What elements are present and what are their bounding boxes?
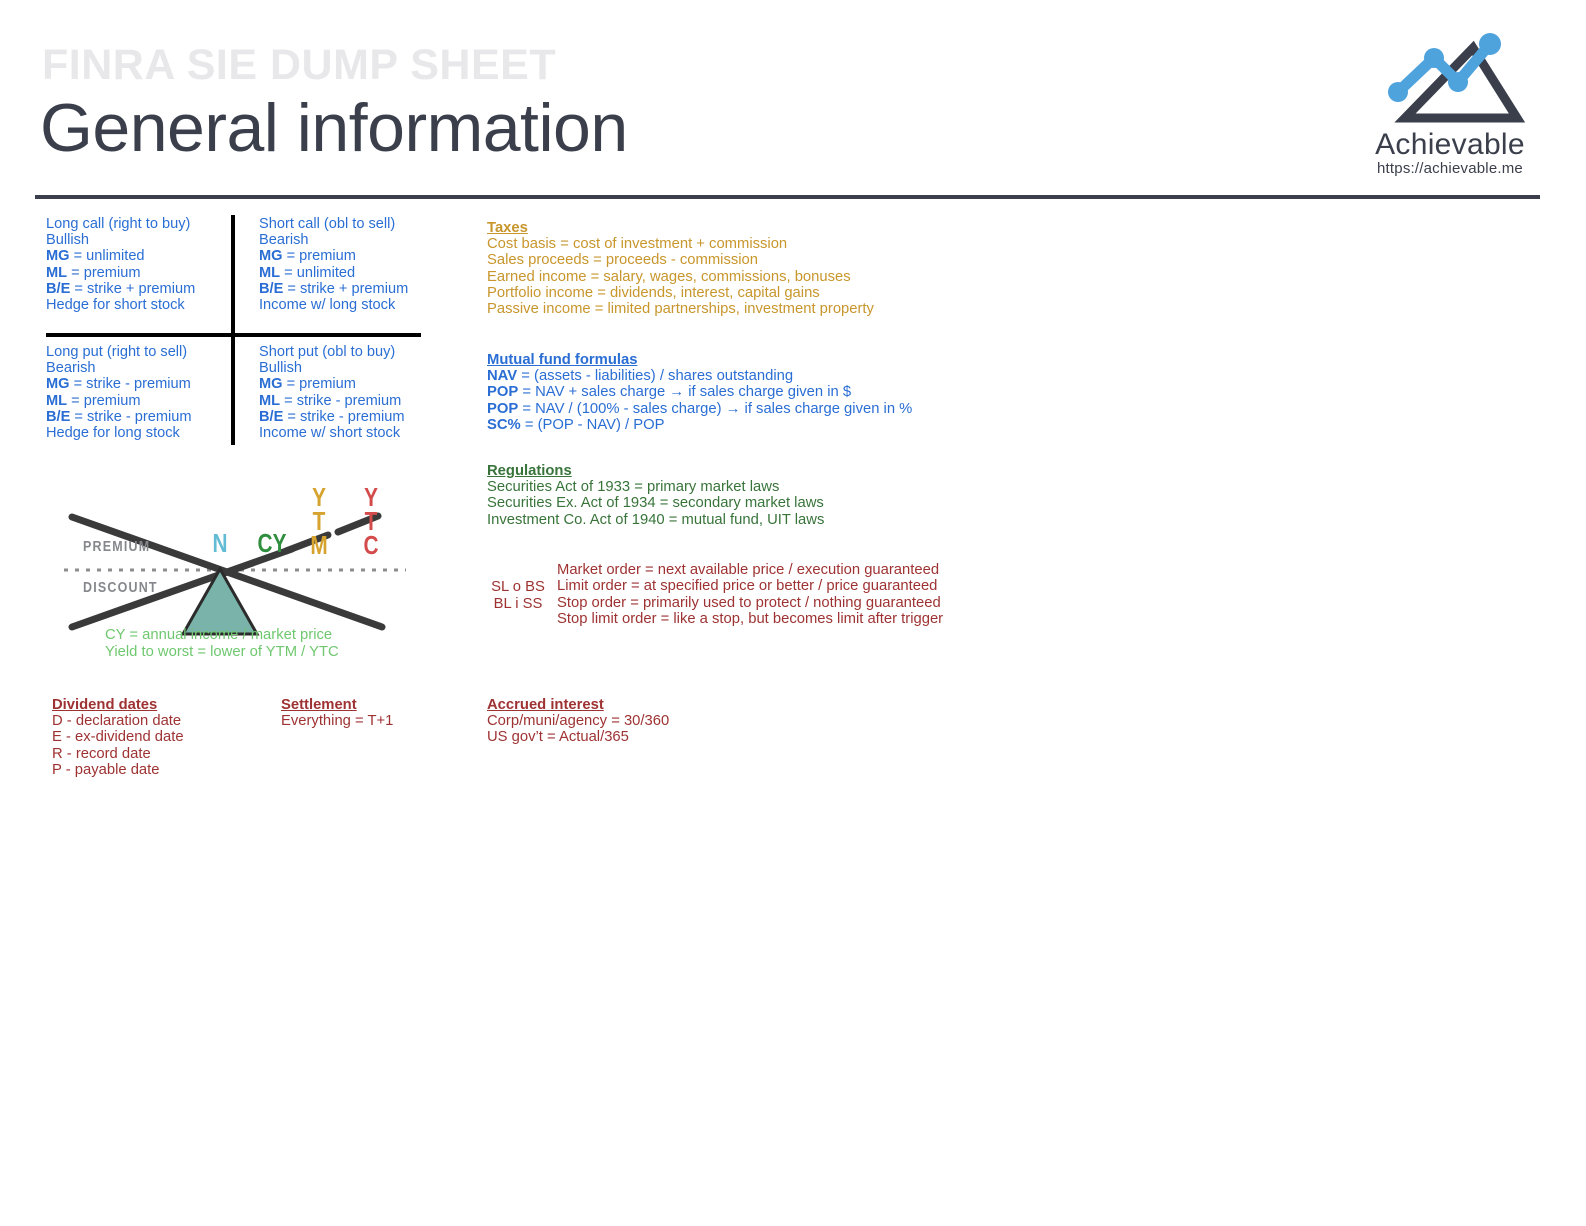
cell-use: Income w/ short stock: [259, 425, 439, 441]
cell-use: Income w/ long stock: [259, 297, 439, 313]
formula-label: POP: [487, 384, 518, 400]
options-quadrant-grid: Long call (right to buy) Bullish MG = un…: [46, 216, 424, 446]
breakeven-value: = strike - premium: [283, 409, 404, 425]
taxes-line: Passive income = limited partnerships, i…: [487, 301, 874, 317]
seesaw-caption-line: CY = annual income / market price: [105, 627, 339, 644]
seesaw-caption-line: Yield to worst = lower of YTM / YTC: [105, 644, 339, 661]
cell-max-gain: MG = premium: [259, 376, 439, 392]
max-gain-value: = premium: [283, 248, 356, 264]
max-gain-value: = premium: [283, 376, 356, 392]
regulation-line: Securities Act of 1933 = primary market …: [487, 479, 824, 495]
breakeven-label: B/E: [259, 281, 283, 297]
regulations-section: Regulations Securities Act of 1933 = pri…: [487, 463, 824, 528]
taxes-line: Earned income = salary, wages, commissio…: [487, 269, 874, 285]
accrued-interest-line: Corp/muni/agency = 30/360: [487, 713, 669, 729]
dividend-date-line: P - payable date: [52, 762, 184, 778]
logo-url: https://achievable.me: [1355, 160, 1545, 177]
band-label-premium: PREMIUM: [83, 539, 150, 555]
order-mnemonic: SL o BS BL i SS: [487, 579, 549, 613]
max-loss-label: ML: [46, 265, 67, 281]
seesaw-letters-ytc: Y T C: [362, 485, 380, 557]
header-divider: [35, 195, 1540, 199]
ytc-char: C: [362, 533, 380, 557]
max-loss-value: = premium: [67, 393, 140, 409]
formula-label: POP: [487, 401, 518, 417]
dividend-date-line: D - declaration date: [52, 713, 184, 729]
options-cell-long-put: Long put (right to sell) Bearish MG = st…: [46, 344, 226, 441]
regulations-heading: Regulations: [487, 463, 824, 479]
cell-use: Hedge for long stock: [46, 425, 226, 441]
mutual-fund-heading: Mutual fund formulas: [487, 352, 912, 368]
formula-value: = NAV / (100% - sales charge) → if sales…: [518, 401, 912, 417]
cell-breakeven: B/E = strike - premium: [259, 409, 439, 425]
order-line-limit: Limit order = at specified price or bett…: [557, 578, 943, 594]
dividend-date-line: E - ex-dividend date: [52, 729, 184, 745]
grid-horizontal-divider: [46, 333, 421, 337]
max-gain-label: MG: [259, 248, 283, 264]
order-mnemonic-line: SL o BS: [487, 579, 549, 596]
max-loss-label: ML: [259, 393, 280, 409]
formula-pop-dollar: POP = NAV + sales charge → if sales char…: [487, 384, 912, 400]
settlement-line: Everything = T+1: [281, 713, 393, 729]
cell-max-loss: ML = unlimited: [259, 265, 439, 281]
achievable-logo: Achievable https://achievable.me: [1355, 32, 1545, 182]
cell-max-gain: MG = premium: [259, 248, 439, 264]
cell-max-gain: MG = unlimited: [46, 248, 226, 264]
seesaw-caption: CY = annual income / market price Yield …: [105, 627, 339, 661]
max-loss-value: = unlimited: [280, 265, 355, 281]
dividend-date-line: R - record date: [52, 746, 184, 762]
breakeven-value: = strike - premium: [70, 409, 191, 425]
cell-max-loss: ML = premium: [46, 265, 226, 281]
grid-vertical-divider: [231, 215, 235, 445]
formula-sales-charge-pct: SC% = (POP - NAV) / POP: [487, 417, 912, 433]
cell-bias: Bearish: [259, 232, 439, 248]
dividend-dates-section: Dividend dates D - declaration date E - …: [52, 697, 184, 778]
ytm-char: M: [310, 533, 328, 557]
taxes-line: Sales proceeds = proceeds - commission: [487, 252, 874, 268]
cell-use: Hedge for short stock: [46, 297, 226, 313]
seesaw-letter-current-yield: CY: [256, 531, 288, 555]
breakeven-label: B/E: [46, 409, 70, 425]
taxes-heading: Taxes: [487, 220, 874, 236]
accrued-interest-heading: Accrued interest: [487, 697, 669, 713]
formula-value: = (POP - NAV) / POP: [521, 417, 665, 433]
regulation-line: Securities Ex. Act of 1934 = secondary m…: [487, 495, 824, 511]
taxes-line: Cost basis = cost of investment + commis…: [487, 236, 874, 252]
order-line-stop: Stop order = primarily used to protect /…: [557, 595, 943, 611]
max-loss-value: = premium: [67, 265, 140, 281]
breakeven-value: = strike + premium: [70, 281, 195, 297]
order-line-stop-limit: Stop limit order = like a stop, but beco…: [557, 611, 943, 627]
dividend-dates-heading: Dividend dates: [52, 697, 184, 713]
max-loss-label: ML: [46, 393, 67, 409]
formula-nav: NAV = (assets - liabilities) / shares ou…: [487, 368, 912, 384]
options-cell-long-call: Long call (right to buy) Bullish MG = un…: [46, 216, 226, 313]
cell-title: Short put (obl to buy): [259, 344, 439, 360]
formula-label: NAV: [487, 368, 517, 384]
line-chart-triangle-logo-icon: [1377, 32, 1527, 128]
max-gain-value: = unlimited: [70, 248, 145, 264]
breakeven-label: B/E: [46, 281, 70, 297]
formula-value: = NAV + sales charge → if sales charge g…: [518, 384, 851, 400]
order-line-market: Market order = next available price / ex…: [557, 562, 943, 578]
settlement-section: Settlement Everything = T+1: [281, 697, 393, 729]
kicker-title: FINRA SIE DUMP SHEET: [42, 44, 556, 87]
taxes-section: Taxes Cost basis = cost of investment + …: [487, 220, 874, 317]
max-gain-value: = strike - premium: [70, 376, 191, 392]
formula-label: SC%: [487, 417, 521, 433]
regulation-line: Investment Co. Act of 1940 = mutual fund…: [487, 512, 824, 528]
mutual-fund-formulas-section: Mutual fund formulas NAV = (assets - lia…: [487, 352, 912, 433]
page-header: FINRA SIE DUMP SHEET General information…: [0, 0, 1586, 200]
order-types-section: SL o BS BL i SS Market order = next avai…: [487, 558, 967, 633]
settlement-heading: Settlement: [281, 697, 393, 713]
max-gain-label: MG: [46, 248, 70, 264]
cell-breakeven: B/E = strike + premium: [46, 281, 226, 297]
cell-breakeven: B/E = strike - premium: [46, 409, 226, 425]
cell-title: Long call (right to buy): [46, 216, 226, 232]
order-mnemonic-line: BL i SS: [487, 596, 549, 613]
cell-title: Long put (right to sell): [46, 344, 226, 360]
band-label-discount: DISCOUNT: [83, 580, 158, 596]
formula-pop-percent: POP = NAV / (100% - sales charge) → if s…: [487, 401, 912, 417]
page-title: General information: [40, 93, 628, 164]
cell-title: Short call (obl to sell): [259, 216, 439, 232]
cell-bias: Bullish: [259, 360, 439, 376]
cell-max-loss: ML = premium: [46, 393, 226, 409]
cell-bias: Bullish: [46, 232, 226, 248]
max-gain-label: MG: [259, 376, 283, 392]
breakeven-value: = strike + premium: [283, 281, 408, 297]
accrued-interest-line: US gov’t = Actual/365: [487, 729, 669, 745]
cell-max-loss: ML = strike - premium: [259, 393, 439, 409]
max-gain-label: MG: [46, 376, 70, 392]
breakeven-label: B/E: [259, 409, 283, 425]
max-loss-value: = strike - premium: [280, 393, 401, 409]
cell-bias: Bearish: [46, 360, 226, 376]
logo-wordmark: Achievable: [1355, 128, 1545, 161]
cell-breakeven: B/E = strike + premium: [259, 281, 439, 297]
cell-max-gain: MG = strike - premium: [46, 376, 226, 392]
accrued-interest-section: Accrued interest Corp/muni/agency = 30/3…: [487, 697, 669, 746]
order-definitions-list: Market order = next available price / ex…: [557, 562, 943, 628]
seesaw-letters-ytm: Y T M: [310, 485, 328, 557]
options-cell-short-put: Short put (obl to buy) Bullish MG = prem…: [259, 344, 439, 441]
formula-value: = (assets - liabilities) / shares outsta…: [517, 368, 793, 384]
options-cell-short-call: Short call (obl to sell) Bearish MG = pr…: [259, 216, 439, 313]
taxes-line: Portfolio income = dividends, interest, …: [487, 285, 874, 301]
max-loss-label: ML: [259, 265, 280, 281]
seesaw-letter-nominal: N: [211, 531, 229, 555]
